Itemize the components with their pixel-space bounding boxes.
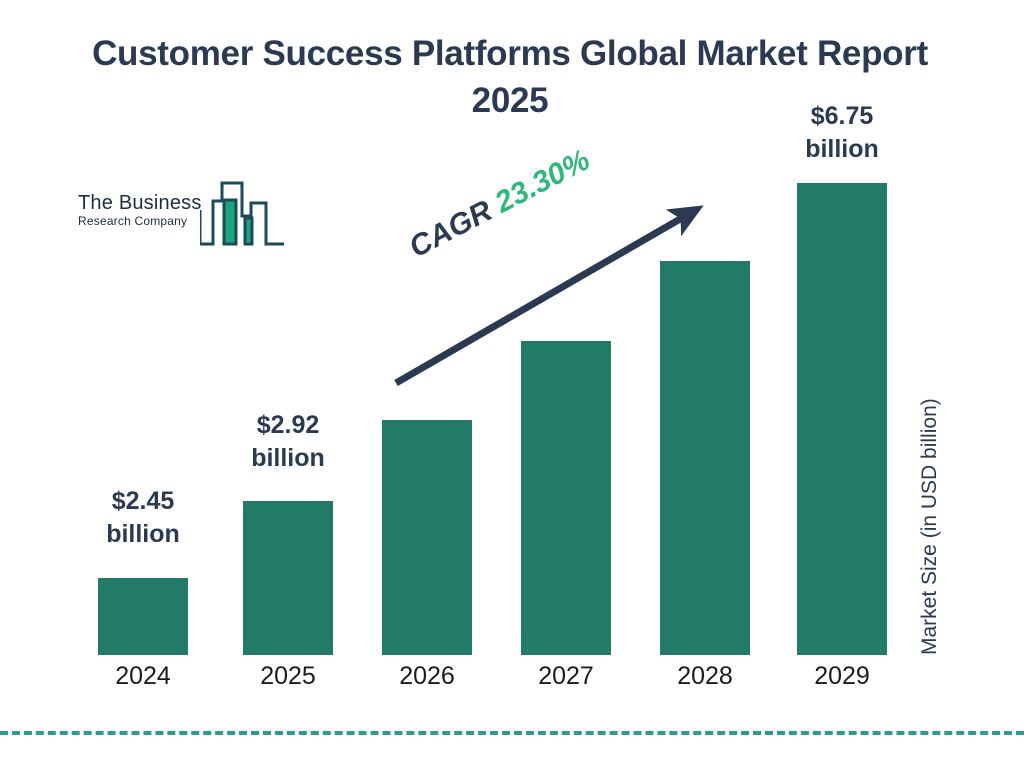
cagr-label: CAGR 23.30% <box>404 143 596 265</box>
bar-value-2025: $2.92 billion <box>223 409 353 475</box>
bar-value-2024-amount: $2.45 <box>78 485 208 518</box>
bar-chart-plot: $2.45 billion $2.92 billion $6.75 billio… <box>0 0 1024 768</box>
cagr-value: 23.30% <box>490 143 595 219</box>
bar-2027 <box>521 341 611 655</box>
x-tick-2025: 2025 <box>223 661 353 691</box>
x-tick-2026: 2026 <box>362 661 492 691</box>
y-axis-title: Market Size (in USD billion) <box>918 398 942 655</box>
bar-value-2024: $2.45 billion <box>78 485 208 551</box>
x-tick-2024: 2024 <box>78 661 208 691</box>
x-tick-2027: 2027 <box>501 661 631 691</box>
bar-value-2025-amount: $2.92 <box>223 409 353 442</box>
bar-2025 <box>243 501 333 655</box>
x-tick-2029: 2029 <box>777 661 907 691</box>
x-tick-2028: 2028 <box>640 661 770 691</box>
chart-page: Customer Success Platforms Global Market… <box>0 0 1024 768</box>
bar-value-2029-amount: $6.75 <box>777 100 907 133</box>
bar-value-2029-unit: billion <box>777 133 907 166</box>
bar-2026 <box>382 420 472 655</box>
bar-2029 <box>797 183 887 655</box>
bar-value-2024-unit: billion <box>78 518 208 551</box>
bar-2028 <box>660 261 750 655</box>
bottom-divider <box>0 731 1024 735</box>
cagr-prefix: CAGR <box>404 194 498 264</box>
bar-2024 <box>98 578 188 655</box>
bar-value-2025-unit: billion <box>223 442 353 475</box>
bar-value-2029: $6.75 billion <box>777 100 907 166</box>
